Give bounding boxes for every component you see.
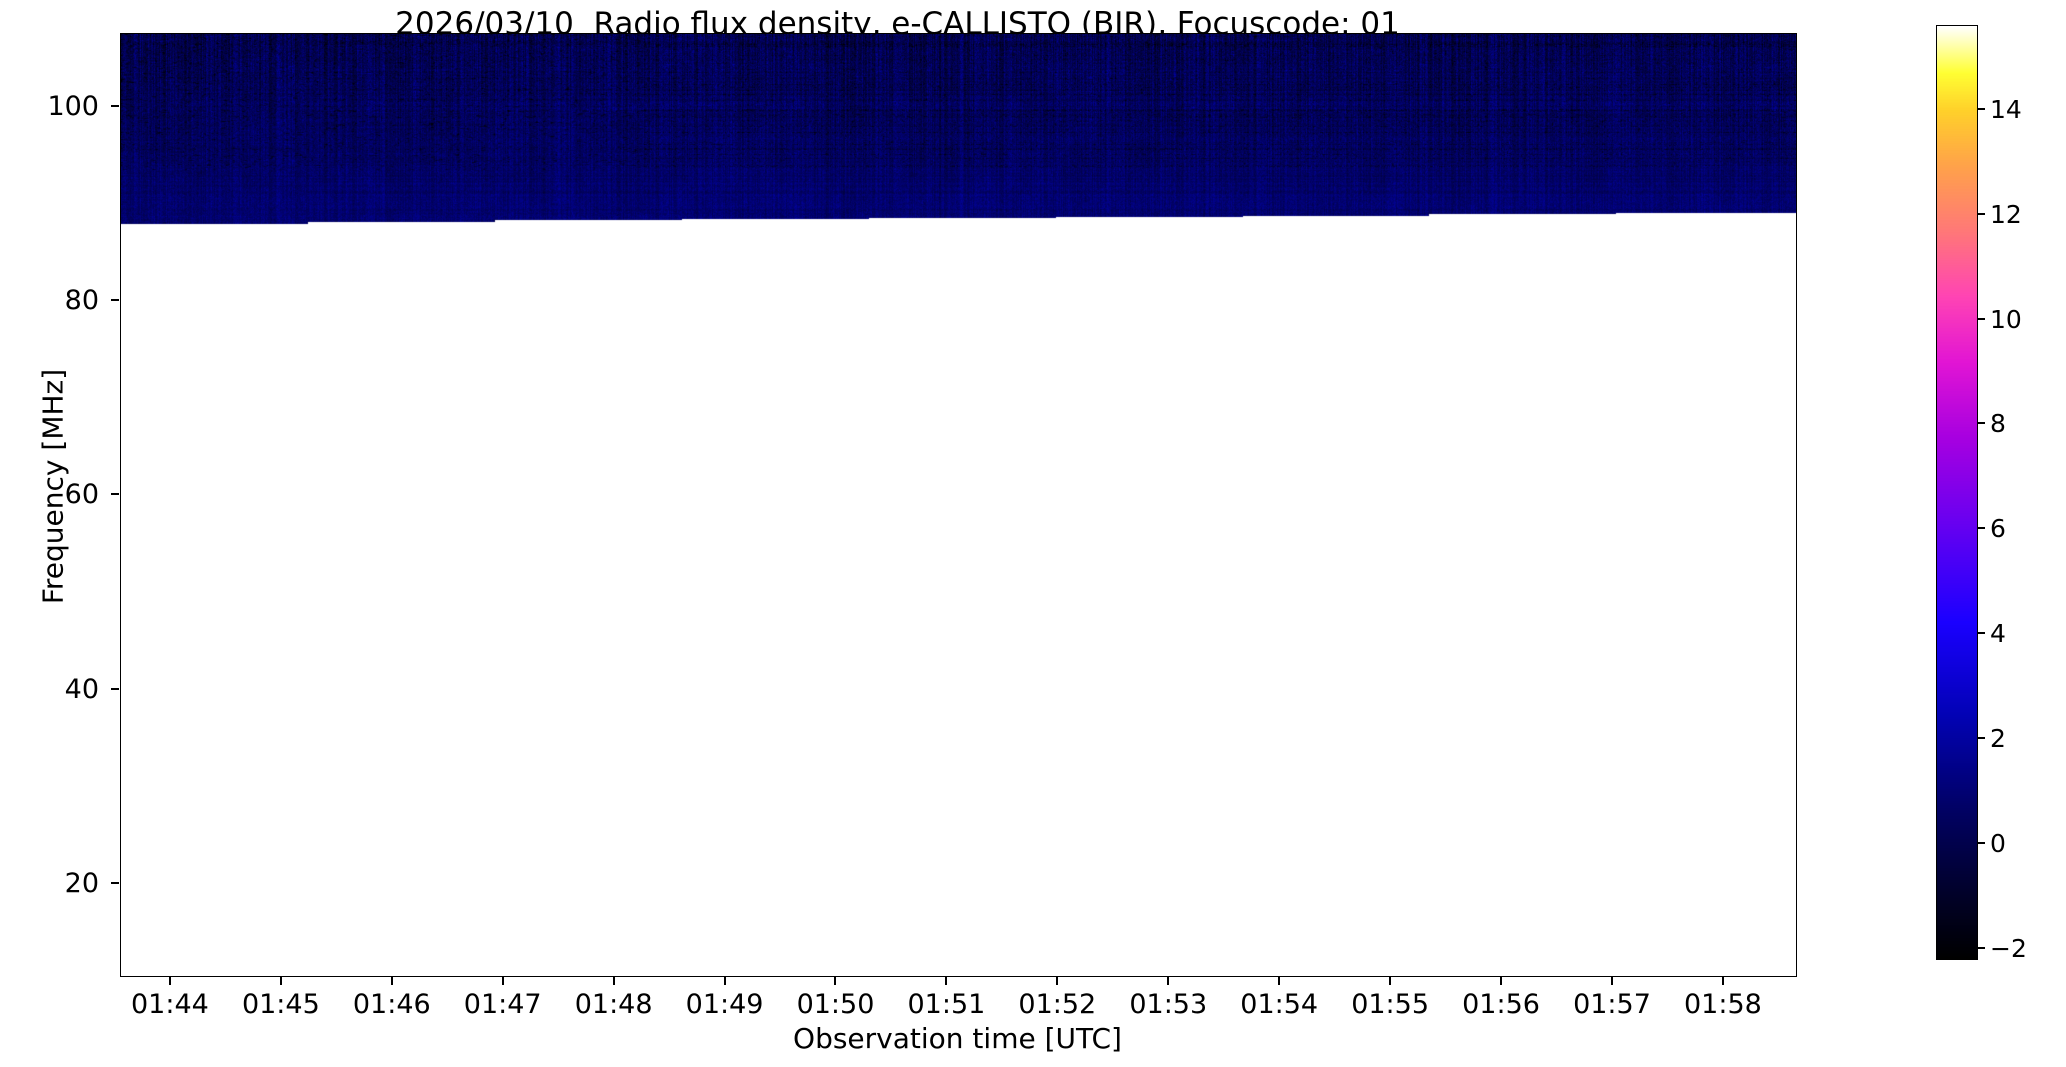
y-tick-mark xyxy=(111,493,119,495)
colorbar-tick-label: 2 xyxy=(1990,726,2066,751)
colorbar xyxy=(1936,25,1978,960)
colorbar-tick-mark xyxy=(1978,842,1985,844)
y-tick-mark xyxy=(111,105,119,107)
colorbar-tick-label: 4 xyxy=(1990,621,2066,646)
y-tick-label: 20 xyxy=(0,870,99,897)
x-tick-label: 01:58 xyxy=(1643,991,1803,1018)
x-tick-mark xyxy=(502,977,504,985)
colorbar-tick-mark xyxy=(1978,632,1985,634)
x-tick-mark xyxy=(1278,977,1280,985)
figure-canvas: 2026/03/10 Radio flux density, e-CALLIST… xyxy=(0,0,2066,1067)
y-axis-label: Frequency [MHz] xyxy=(37,187,70,787)
colorbar-tick-label: 12 xyxy=(1990,202,2066,227)
colorbar-tick-label: 6 xyxy=(1990,516,2066,541)
colorbar-gradient xyxy=(1937,26,1977,959)
x-tick-mark xyxy=(834,977,836,985)
y-tick-mark xyxy=(111,299,119,301)
x-tick-mark xyxy=(1611,977,1613,985)
x-tick-mark xyxy=(1167,977,1169,985)
x-tick-mark xyxy=(1056,977,1058,985)
x-tick-mark xyxy=(1389,977,1391,985)
x-tick-mark xyxy=(1500,977,1502,985)
colorbar-tick-mark xyxy=(1978,947,1985,949)
x-tick-mark xyxy=(280,977,282,985)
colorbar-tick-label: 0 xyxy=(1990,831,2066,856)
spectrogram-axes xyxy=(120,33,1797,977)
x-tick-mark xyxy=(613,977,615,985)
x-tick-mark xyxy=(391,977,393,985)
y-tick-mark xyxy=(111,882,119,884)
colorbar-tick-label: 8 xyxy=(1990,411,2066,436)
spectrogram-image xyxy=(121,34,1796,976)
x-tick-mark xyxy=(945,977,947,985)
colorbar-tick-mark xyxy=(1978,213,1985,215)
y-tick-label: 100 xyxy=(0,93,99,120)
colorbar-tick-label: 10 xyxy=(1990,307,2066,332)
colorbar-tick-mark xyxy=(1978,108,1985,110)
colorbar-tick-mark xyxy=(1978,422,1985,424)
colorbar-tick-mark xyxy=(1978,318,1985,320)
colorbar-tick-mark xyxy=(1978,737,1985,739)
colorbar-tick-label: 14 xyxy=(1990,97,2066,122)
x-axis-label: Observation time [UTC] xyxy=(120,1022,1795,1055)
colorbar-tick-label: −2 xyxy=(1990,936,2066,961)
x-tick-mark xyxy=(169,977,171,985)
x-tick-mark xyxy=(724,977,726,985)
x-tick-mark xyxy=(1722,977,1724,985)
y-tick-mark xyxy=(111,688,119,690)
colorbar-tick-mark xyxy=(1978,527,1985,529)
